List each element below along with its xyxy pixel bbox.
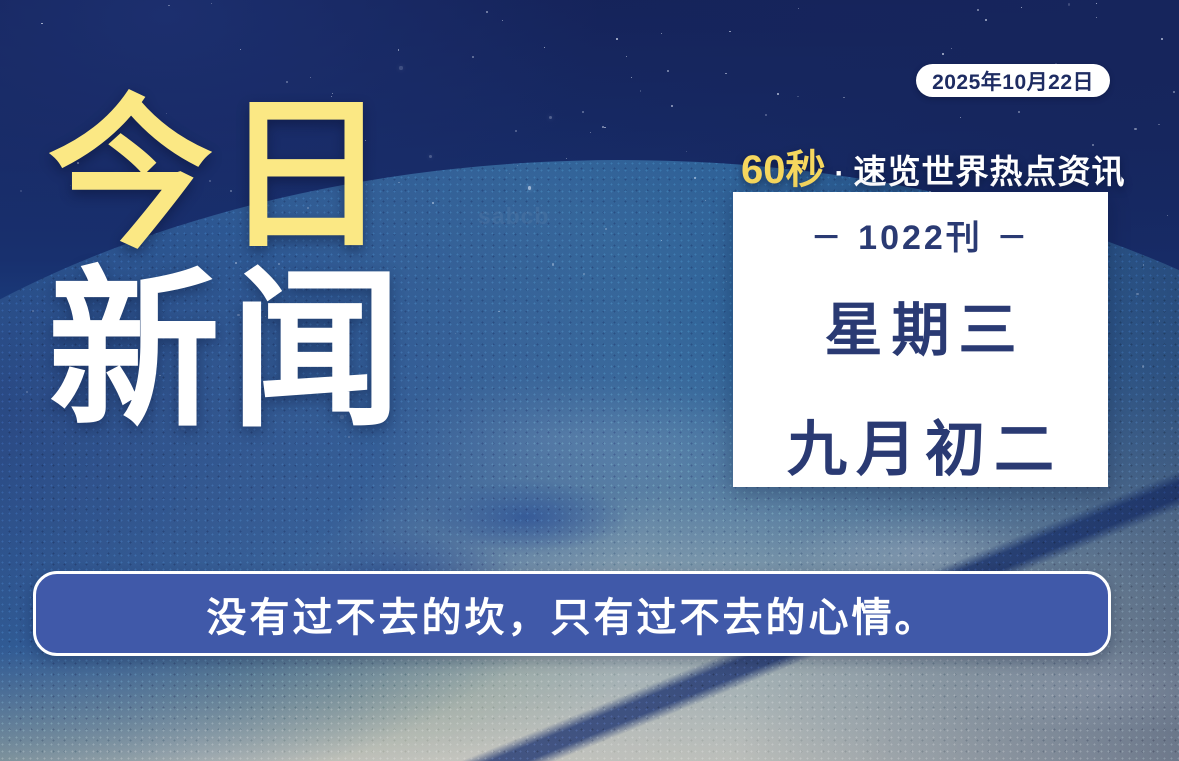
quote-banner: 没有过不去的坎，只有过不去的心情。 [33, 571, 1111, 656]
weekday-label: 星期三 [815, 283, 1025, 367]
brand-title-line1: 今日 [48, 96, 468, 254]
date-badge: 2025年10月22日 [916, 64, 1110, 97]
tagline-highlight: 60秒 [741, 137, 826, 195]
issue-row: － 1022刊 － [811, 210, 1030, 259]
tagline-text: 速览世界热点资讯 [854, 145, 1126, 193]
issue-number: 1022刊 [858, 210, 983, 259]
info-card: － 1022刊 － 星期三 九月初二 [733, 192, 1108, 487]
tagline-separator: · [835, 157, 845, 191]
news-poster: sabcb 今日 新闻 2025年10月22日 60秒 · 速览世界热点资讯 －… [0, 0, 1179, 761]
brand-title: 今日 新闻 [48, 96, 468, 434]
issue-dash-left: － [811, 213, 844, 257]
tagline: 60秒 · 速览世界热点资讯 [741, 137, 1126, 195]
lunar-date-label: 九月初二 [778, 401, 1063, 488]
issue-dash-right: － [997, 213, 1030, 257]
brand-title-line2: 新闻 [48, 268, 468, 433]
